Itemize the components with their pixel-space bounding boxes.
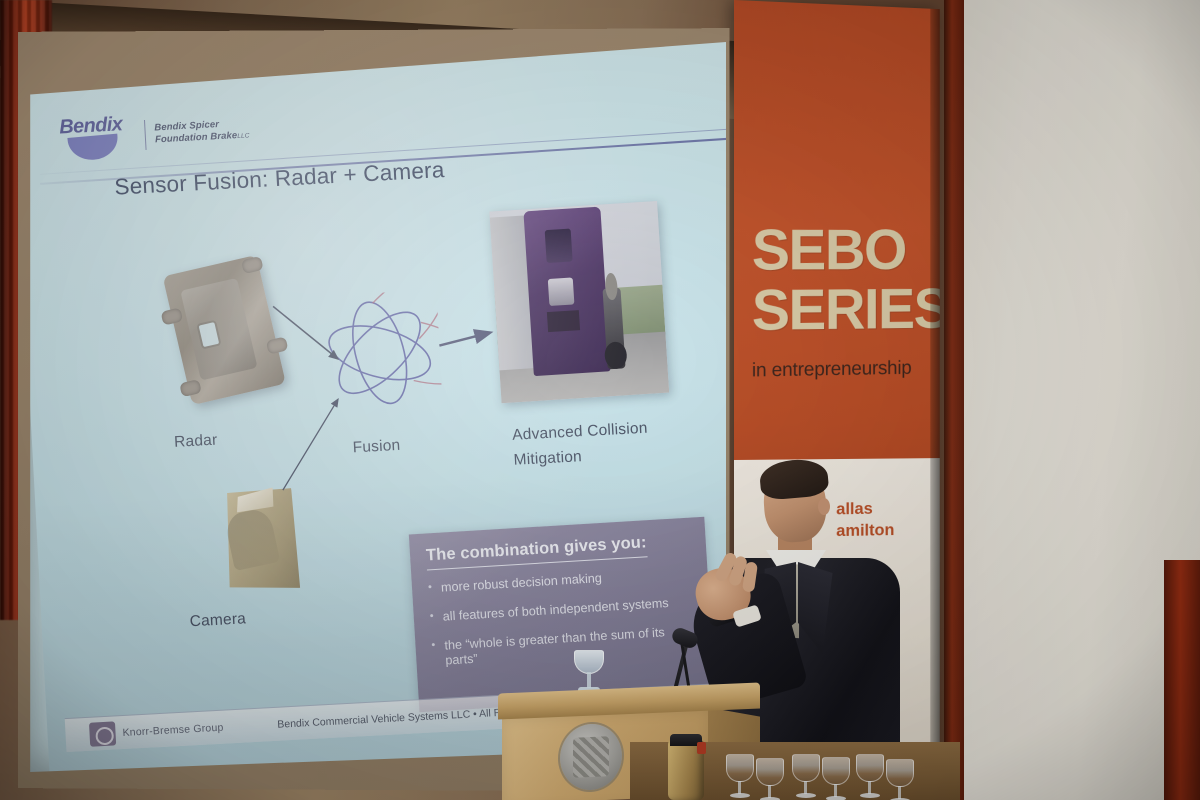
photo-windshield [544, 228, 572, 263]
slide-title: Sensor Fusion: Radar + Camera [114, 157, 445, 201]
glass-foot [860, 793, 880, 798]
bendix-wordmark: Bendix [59, 113, 136, 137]
knorr-bremse-mark-icon [89, 721, 116, 746]
knorr-bremse-logo: Knorr-Bremse Group [89, 715, 224, 746]
water-glass [886, 759, 914, 800]
camera-sensor-image [205, 480, 312, 604]
water-glass [792, 754, 820, 800]
bendix-subbrand-llc: LLC [237, 132, 250, 140]
bendix-swoosh-icon [67, 134, 119, 162]
banner-subtitle: in entrepreneurship [752, 357, 912, 382]
photo-scene: SEBO SERIES SEBO SERIES in entrepreneurs… [0, 0, 1200, 800]
diagram-label-radar: Radar [174, 432, 218, 452]
photo-bumper [546, 310, 580, 332]
bendix-logo-mark: Bendix [59, 113, 137, 161]
water-glass [726, 754, 754, 800]
glass-foot [730, 793, 750, 798]
radar-mount-tab [266, 336, 289, 354]
glass-foot [796, 793, 816, 798]
glass-foot [826, 796, 846, 800]
stage-curtain-right [1164, 560, 1200, 800]
radar-mount-tab [161, 307, 184, 325]
radar-mount-tab [179, 379, 202, 397]
glass-bowl [792, 754, 820, 782]
glass-bowl [856, 754, 884, 782]
diagram-label-outcome: Advanced Collision Mitigation [512, 416, 650, 473]
glass-bowl [886, 759, 914, 787]
callout-heading: The combination gives you: [426, 533, 648, 570]
radar-mount-tab [241, 256, 264, 274]
trophy-stem [587, 672, 591, 688]
wall-divider-column [944, 0, 964, 800]
glass-bowl [726, 754, 754, 782]
callout-bullet-list: more robust decision making all features… [428, 565, 699, 669]
water-glass [756, 758, 784, 800]
banner-shadow-edge [930, 9, 939, 752]
banner-title-line1: SEBO [752, 224, 906, 277]
glass-bowl [822, 757, 850, 785]
bendix-subbrand: Bendix Spicer Foundation BrakeLLC [154, 117, 250, 147]
callout-bullet: the “whole is greater than the sum of it… [431, 623, 698, 669]
bendix-logo: Bendix Bendix Spicer Foundation BrakeLLC [59, 107, 251, 161]
water-glass [822, 757, 850, 800]
presentation-slide: Bendix Bendix Spicer Foundation BrakeLLC… [26, 42, 726, 772]
knorr-bremse-label: Knorr-Bremse Group [122, 721, 224, 738]
callout-bullet: more robust decision making [428, 565, 694, 596]
photo-grille [548, 278, 574, 306]
diagram-label-camera: Camera [189, 610, 246, 631]
banner-title-line2: SERIES [752, 283, 940, 338]
logo-divider [144, 120, 147, 150]
water-pitcher [668, 740, 704, 800]
radar-sensor-image [163, 255, 286, 405]
glass-bowl [756, 758, 784, 786]
arrow-fusion-to-outcome [439, 333, 489, 346]
speaker-ear [818, 498, 830, 515]
projection-screen: Bendix Bendix Spicer Foundation BrakeLLC… [26, 42, 726, 772]
callout-box: The combination gives you: more robust d… [409, 517, 715, 712]
trophy-cup [574, 650, 604, 674]
callout-bullet: all features of both independent systems [429, 594, 695, 625]
fusion-atom-icon [317, 290, 443, 416]
collision-mitigation-photo [489, 201, 669, 403]
photo-truck-cab [523, 206, 611, 376]
water-glass [856, 754, 884, 800]
diagram-label-fusion: Fusion [352, 437, 401, 458]
